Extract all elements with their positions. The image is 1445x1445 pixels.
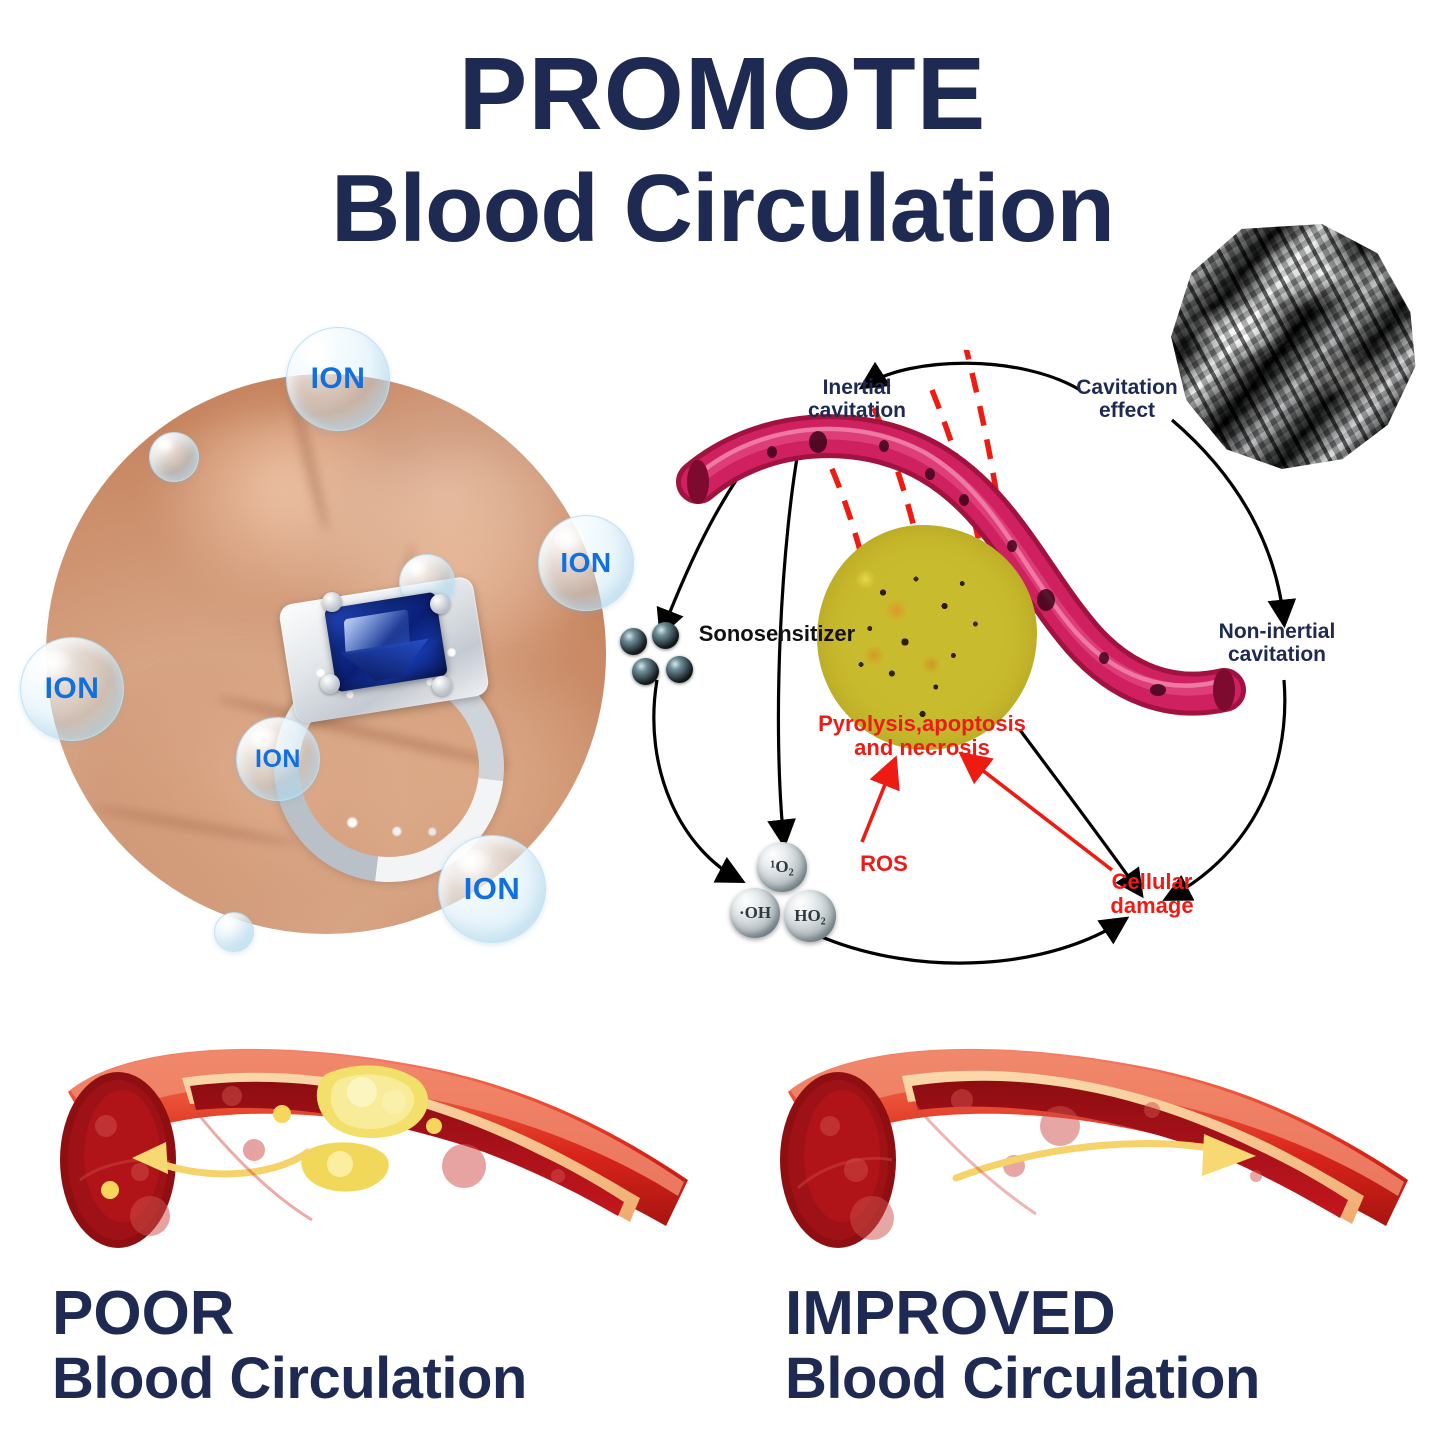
plaque-deposit — [301, 1065, 428, 1191]
ring-prong — [322, 592, 342, 612]
ion-bubble-label: ION — [464, 871, 521, 907]
ring-prong — [430, 594, 450, 614]
diagram-label-line: Sonosensitizer — [672, 622, 882, 646]
plain-bubble — [149, 432, 199, 482]
poor-circulation-vessel-illustration — [40, 1030, 700, 1280]
title-line-promote: PROMOTE — [0, 42, 1445, 145]
diagram-label-line: cavitation — [1182, 643, 1372, 666]
page-title: PROMOTE Blood Circulation — [0, 42, 1445, 263]
diagram-label-inertial-cavitation: Inertialcavitation — [762, 376, 952, 422]
blood-flow-arrow — [956, 1134, 1256, 1178]
poor-vessel-svg — [40, 1030, 700, 1280]
plain-bubble — [214, 912, 254, 952]
ros-molecule-sphere: ·OH — [730, 888, 780, 938]
blood-flow-arrow — [132, 1142, 308, 1174]
sonosensitizer-nanoparticle — [632, 658, 659, 685]
sonosensitizer-nanoparticle — [620, 628, 647, 655]
diagram-label-cellular-damage: Cellulardamage — [1062, 870, 1242, 918]
diagram-label-non-inertial-cavitation: Non-inertialcavitation — [1182, 620, 1372, 666]
poor-title: POOR — [52, 1281, 527, 1348]
ion-bubble: ION — [236, 717, 320, 801]
ros-molecule-sphere: HO₂ — [784, 890, 836, 942]
diagram-label-line: and necrosis — [777, 736, 1067, 760]
diagram-label-line: cavitation — [762, 399, 952, 422]
improved-title: IMPROVED — [785, 1281, 1260, 1348]
infographic-page: PROMOTE Blood Circulation ION — [0, 0, 1445, 1445]
improved-subtitle: Blood Circulation — [785, 1348, 1260, 1411]
ion-bubble-label: ION — [560, 547, 611, 579]
ion-bubble: ION — [286, 327, 390, 431]
ion-bubble-label: ION — [45, 672, 100, 706]
ring-photo-panel: IONIONIONIONION — [14, 292, 644, 972]
improved-vessel-svg — [760, 1030, 1420, 1280]
sonosensitizer-nanoparticle — [666, 656, 693, 683]
diagram-label-pyrolysis: Pyrolysis,apoptosisand necrosis — [777, 712, 1067, 760]
diagram-label-ros: ROS — [839, 852, 929, 876]
diagram-label-line: ROS — [839, 852, 929, 876]
ros-molecule-sphere: ¹O₂ — [757, 842, 807, 892]
improved-circulation-label: IMPROVED Blood Circulation — [785, 1281, 1260, 1411]
diagram-label-line: Non-inertial — [1182, 620, 1372, 643]
ion-bubble-label: ION — [311, 362, 366, 396]
diagram-label-line: damage — [1062, 894, 1242, 918]
ion-bubble-label: ION — [255, 745, 301, 774]
blue-sapphire-gemstone — [324, 592, 448, 692]
diagram-label-sonosensitizer: Sonosensitizer — [672, 622, 882, 646]
ring-prong — [432, 676, 452, 696]
ring-prong — [320, 674, 340, 694]
ion-bubble: ION — [20, 637, 124, 741]
improved-circulation-vessel-illustration — [760, 1030, 1420, 1280]
poor-subtitle: Blood Circulation — [52, 1348, 527, 1411]
diagram-label-line: Cellular — [1062, 870, 1242, 894]
ion-bubble: ION — [438, 835, 546, 943]
diagram-label-line: Pyrolysis,apoptosis — [777, 712, 1067, 736]
poor-circulation-label: POOR Blood Circulation — [52, 1281, 527, 1411]
diagram-label-line: Inertial — [762, 376, 952, 399]
